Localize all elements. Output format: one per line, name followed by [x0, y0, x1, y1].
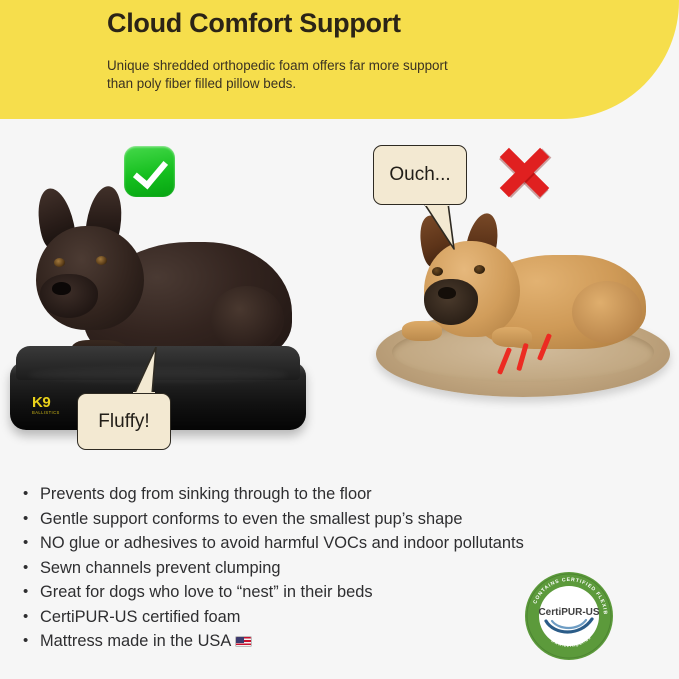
list-item: Prevents dog from sinking through to the… — [22, 482, 652, 507]
dog-paw-left — [402, 321, 442, 341]
sink-mark-1 — [497, 347, 512, 375]
fluffy-bubble-tail — [120, 347, 158, 397]
sink-mark-3 — [537, 333, 552, 361]
certipur-us-badge: CONTAINS CERTIFIED FLEXIBLE POLYURETHANE… — [524, 571, 614, 661]
fluffy-speech-bubble: Fluffy! — [77, 393, 171, 450]
dog-eye-right — [96, 256, 107, 265]
feature-text: NO glue or adhesives to avoid harmful VO… — [40, 534, 524, 552]
dog-eye-left — [432, 267, 443, 276]
sink-mark-2 — [516, 343, 529, 371]
comparison-stage: K9 BALLISTICS — [0, 119, 679, 469]
badge-center-text: CertiPUR-US — [538, 607, 599, 618]
k9-logo-text: K9 — [32, 396, 72, 410]
list-item: NO glue or adhesives to avoid harmful VO… — [22, 531, 652, 556]
usa-flag-icon — [235, 636, 252, 647]
dog-haunch — [210, 286, 284, 352]
k9-logo-subtext: BALLISTICS — [32, 410, 72, 416]
dog-muzzle — [40, 274, 98, 318]
ouch-speech-bubble: Ouch... — [373, 145, 467, 205]
list-item: Gentle support conforms to even the smal… — [22, 507, 652, 532]
feature-text: Mattress made in the USA — [40, 632, 231, 650]
page-title: Cloud Comfort Support — [107, 8, 401, 39]
bad-product-photo — [372, 217, 672, 417]
ouch-bubble-tail — [424, 203, 460, 251]
dog-nose — [438, 287, 456, 299]
dog-nose — [52, 282, 71, 295]
feature-text: CertiPUR-US certified foam — [40, 608, 240, 626]
ouch-bubble-text: Ouch... — [389, 164, 450, 186]
k9-brand-logo: K9 BALLISTICS — [32, 396, 72, 416]
feature-text: Prevents dog from sinking through to the… — [40, 485, 372, 503]
sinking-indicator-marks — [500, 333, 562, 377]
product-infographic: Cloud Comfort Support Unique shredded or… — [0, 0, 679, 679]
header-subtitle: Unique shredded orthopedic foam offers f… — [107, 57, 477, 93]
red-cross-mark-icon — [497, 146, 552, 198]
fluffy-bubble-text: Fluffy! — [98, 411, 149, 433]
dog-haunch — [572, 281, 642, 343]
header-band: Cloud Comfort Support Unique shredded or… — [0, 0, 679, 119]
dog-eye-left — [54, 258, 65, 267]
dog-eye-right — [474, 265, 485, 274]
feature-text: Gentle support conforms to even the smal… — [40, 510, 462, 528]
feature-text: Great for dogs who love to “nest” in the… — [40, 583, 373, 601]
feature-text: Sewn channels prevent clumping — [40, 559, 281, 577]
